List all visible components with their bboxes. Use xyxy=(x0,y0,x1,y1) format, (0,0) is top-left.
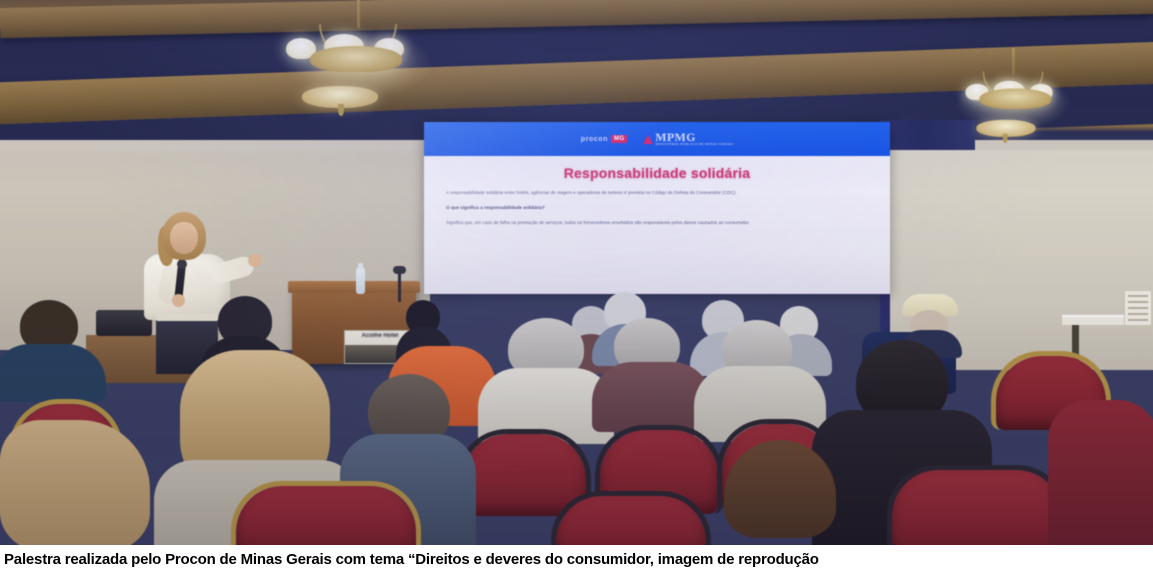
slide-question: O que significa a responsabilidade solid… xyxy=(446,204,868,212)
chair xyxy=(892,470,1062,545)
shoulders xyxy=(0,344,106,402)
microphone-icon xyxy=(393,266,406,274)
audience-member xyxy=(0,300,104,396)
photo-caption: Palestra realizada pelo Procon de Minas … xyxy=(0,545,1153,586)
mpmg-logo: MPMG MINISTÉRIO PÚBLICO DE MINAS GERAIS xyxy=(643,131,733,147)
shoulders xyxy=(1048,400,1153,545)
audience-member xyxy=(700,440,860,545)
slide-title: Responsabilidade solidária xyxy=(446,165,868,181)
mpmg-logo-text: MPMG MINISTÉRIO PÚBLICO DE MINAS GERAIS xyxy=(655,131,733,147)
chandelier-icon xyxy=(268,0,448,144)
screenshot-root: procon MG MPMG MINISTÉRIO PÚBLICO DE MIN… xyxy=(0,0,1153,586)
procon-logo: procon MG xyxy=(581,135,628,143)
procon-logo-text: procon xyxy=(581,136,608,143)
hair xyxy=(0,420,150,545)
presenter-face xyxy=(170,222,198,254)
audience-member xyxy=(0,420,210,545)
chair xyxy=(556,496,706,545)
mpmg-logo-subtitle: MINISTÉRIO PÚBLICO DE MINAS GERAIS xyxy=(655,143,733,147)
slide-paragraph: Significa que, em caso de falha na prest… xyxy=(446,219,868,227)
projection-screen: procon MG MPMG MINISTÉRIO PÚBLICO DE MIN… xyxy=(424,122,890,294)
audience-member xyxy=(484,318,608,438)
audience-member xyxy=(596,318,706,428)
chair xyxy=(236,486,416,545)
mpmg-mark-icon xyxy=(643,135,653,144)
chandelier-icon xyxy=(955,48,1072,142)
wall-notice xyxy=(1124,290,1152,326)
water-bottle xyxy=(356,268,365,294)
slide-paragraph: A responsabilidade solidária entre hotéi… xyxy=(446,189,868,197)
procon-logo-tag: MG xyxy=(611,135,627,143)
slide-header: procon MG MPMG MINISTÉRIO PÚBLICO DE MIN… xyxy=(424,122,890,156)
slide-body: Responsabilidade solidária A responsabil… xyxy=(424,156,890,294)
hair xyxy=(724,440,836,538)
audience-member xyxy=(1048,400,1153,545)
microphone-stand xyxy=(398,272,401,302)
photo-caption-text: Palestra realizada pelo Procon de Minas … xyxy=(4,551,819,568)
presenter-hand-left xyxy=(172,294,185,307)
presenter-hand-right xyxy=(248,254,262,267)
news-photo: procon MG MPMG MINISTÉRIO PÚBLICO DE MIN… xyxy=(0,0,1153,545)
